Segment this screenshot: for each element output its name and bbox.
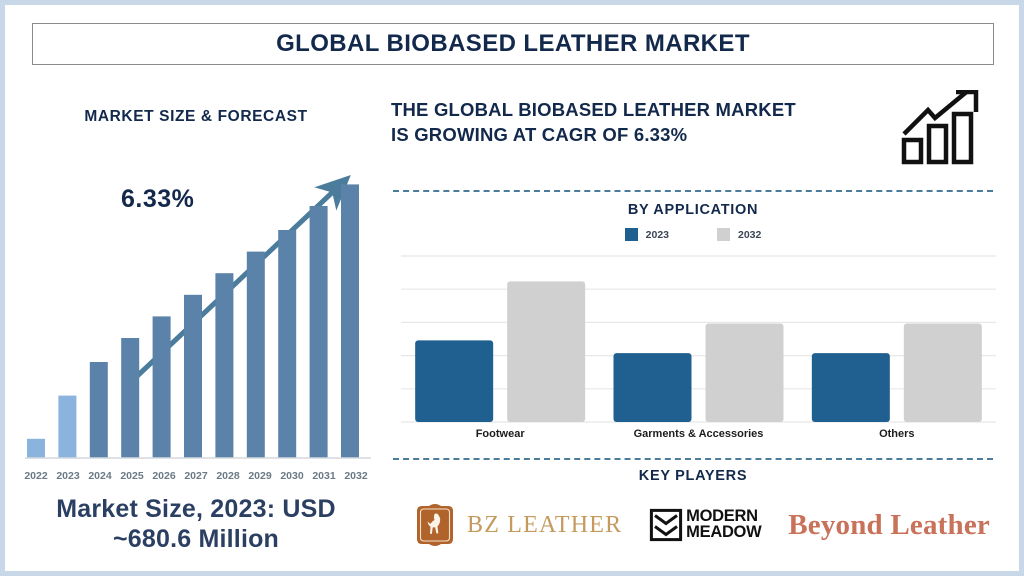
legend-swatch	[717, 228, 730, 241]
category-axis-label: Others	[798, 428, 996, 450]
market-size-forecast-panel: MARKET SIZE & FORECAST 6.33% 20222023202…	[11, 80, 381, 570]
trend-bar	[310, 206, 328, 458]
category-axis-labels: FootwearGarments & AccessoriesOthers	[401, 428, 996, 450]
category-axis-label: Garments & Accessories	[599, 428, 797, 450]
key-players-logos: BZ LEATHER MODERN MEADOW Beyond Leather	[393, 490, 1008, 560]
year-axis-label: 2029	[244, 470, 276, 482]
trend-bar	[90, 362, 108, 458]
application-bar	[812, 353, 890, 422]
envelope-m-icon	[649, 508, 683, 542]
logo-modern-meadow-text: MODERN MEADOW	[686, 509, 761, 541]
year-axis-label: 2024	[84, 470, 116, 482]
year-axis-labels: 2022202320242025202620272028202920302031…	[11, 470, 381, 482]
left-panel-heading: MARKET SIZE & FORECAST	[11, 108, 381, 126]
market-size-forecast-chart	[11, 140, 381, 470]
by-application-title: BY APPLICATION	[393, 202, 993, 218]
logo-beyond-leather: Beyond Leather	[788, 509, 990, 542]
divider-top	[393, 190, 993, 192]
key-players-title: KEY PLAYERS	[393, 468, 993, 484]
chart-legend: 20232032	[393, 228, 993, 241]
trend-bar	[184, 295, 202, 458]
cagr-headline-line-2: IS GROWING AT CAGR OF 6.33%	[391, 123, 891, 148]
trend-bar	[247, 252, 265, 458]
logo-bz-leather: BZ LEATHER	[411, 501, 622, 549]
application-bar	[507, 281, 585, 422]
application-bar	[614, 353, 692, 422]
legend-item: 2023	[625, 228, 669, 241]
year-axis-label: 2025	[116, 470, 148, 482]
logo-modern-meadow-line-2: MEADOW	[686, 525, 761, 541]
logo-modern-meadow: MODERN MEADOW	[649, 508, 761, 542]
by-application-chart	[401, 248, 996, 428]
year-axis-label: 2022	[20, 470, 52, 482]
trend-bar	[341, 184, 359, 458]
bar-chart-growth-icon	[898, 90, 998, 165]
category-axis-label: Footwear	[401, 428, 599, 450]
year-axis-label: 2030	[276, 470, 308, 482]
cagr-headline-line-1: THE GLOBAL BIOBASED LEATHER MARKET	[391, 98, 891, 123]
market-size-callout: Market Size, 2023: USD ~680.6 Million	[11, 495, 381, 554]
trend-bar	[58, 396, 76, 458]
horse-badge-icon	[411, 501, 459, 549]
legend-swatch	[625, 228, 638, 241]
year-axis-label: 2027	[180, 470, 212, 482]
legend-label: 2023	[646, 229, 669, 241]
infographic-canvas: GLOBAL BIOBASED LEATHER MARKET MARKET SI…	[0, 0, 1024, 576]
legend-label: 2032	[738, 229, 761, 241]
market-size-line-2: ~680.6 Million	[11, 525, 381, 555]
year-axis-label: 2023	[52, 470, 84, 482]
page-title: GLOBAL BIOBASED LEATHER MARKET	[276, 30, 750, 58]
cagr-headline: THE GLOBAL BIOBASED LEATHER MARKET IS GR…	[391, 98, 891, 148]
market-size-line-1: Market Size, 2023: USD	[11, 495, 381, 525]
divider-bottom	[393, 458, 993, 460]
legend-item: 2032	[717, 228, 761, 241]
application-bar	[706, 324, 784, 422]
right-panel: THE GLOBAL BIOBASED LEATHER MARKET IS GR…	[383, 80, 1023, 575]
application-bar	[415, 340, 493, 422]
year-axis-label: 2031	[308, 470, 340, 482]
application-bar	[904, 324, 982, 422]
logo-beyond-leather-text: Beyond Leather	[788, 509, 990, 542]
year-axis-label: 2028	[212, 470, 244, 482]
title-box: GLOBAL BIOBASED LEATHER MARKET	[32, 23, 994, 65]
trend-bar	[278, 230, 296, 458]
trend-bar	[215, 273, 233, 458]
trend-bar	[153, 316, 171, 458]
trend-bar	[121, 338, 139, 458]
year-axis-label: 2026	[148, 470, 180, 482]
trend-bar	[27, 439, 45, 458]
year-axis-label: 2032	[340, 470, 372, 482]
logo-bz-leather-text: BZ LEATHER	[467, 512, 622, 539]
